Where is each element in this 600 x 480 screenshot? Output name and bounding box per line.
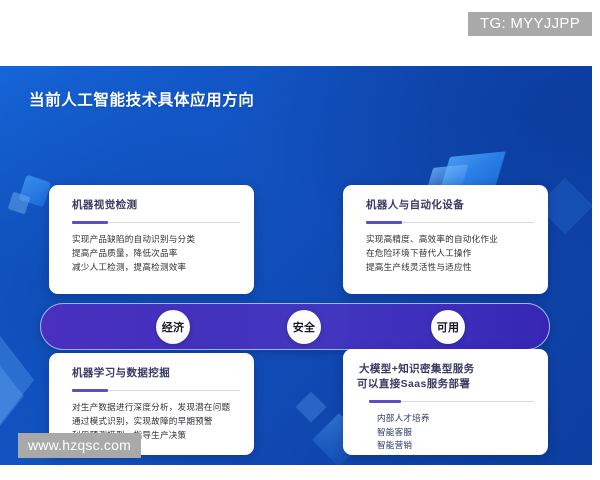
card-body: 实现高精度、高效率的自动化作业 在危险环境下替代人工操作 提高生产线灵活性与适应… (357, 233, 534, 275)
card-title: 大模型+知识密集型服务 (357, 362, 534, 376)
triangle-decoration-left-small (0, 366, 24, 426)
card-body-line: 实现产品缺陷的自动识别与分类 (72, 233, 240, 247)
triangle-decoration-left (0, 336, 34, 424)
band-node-label: 安全 (293, 319, 315, 335)
card-robotics-automation: 机器人与自动化设备 实现高精度、高效率的自动化作业 在危险环境下替代人工操作 提… (343, 185, 548, 294)
accent-bar (72, 389, 108, 392)
card-body-line: 对生产数据进行深度分析，发现潜在问题 (72, 401, 240, 415)
band-node-economy: 经济 (156, 310, 190, 344)
card-body-line: 提高生产线灵活性与适应性 (366, 261, 534, 275)
slide-title: 当前人工智能技术具体应用方向 (29, 88, 254, 110)
card-body-line: 实现高精度、高效率的自动化作业 (366, 233, 534, 247)
accent-bar (72, 221, 108, 224)
band-node-label: 可用 (437, 319, 459, 335)
band-node-availability: 可用 (431, 310, 465, 344)
band-node-label: 经济 (162, 319, 184, 335)
card-divider (357, 400, 534, 403)
card-machine-vision-inspection: 机器视觉检测 实现产品缺陷的自动识别与分类 提高产品质量，降低次品率 减少人工检… (49, 185, 254, 294)
square-decoration-left-small (8, 192, 31, 215)
card-body-line: 内部办公协同 (377, 453, 534, 455)
band-node-security: 安全 (287, 310, 321, 344)
card-divider (63, 389, 240, 392)
card-body-line: 减少人工检测，提高检测效率 (72, 261, 240, 275)
card-title: 机器视觉检测 (63, 198, 240, 212)
presentation-slide: 当前人工智能技术具体应用方向 机器视觉检测 实现产品缺陷的自动识别与分类 提高产… (0, 66, 592, 465)
card-body-line: 智能客服 (377, 426, 534, 440)
url-watermark: www.hzqsc.com (18, 433, 141, 458)
card-body-line: 提高产品质量，降低次品率 (72, 247, 240, 261)
card-title-secondary: 可以直接Saas服务部署 (357, 376, 534, 391)
accent-bar (366, 221, 402, 224)
card-body: 实现产品缺陷的自动识别与分类 提高产品质量，降低次品率 减少人工检测，提高检测效… (63, 233, 240, 275)
card-divider (63, 221, 240, 224)
card-title: 机器人与自动化设备 (357, 198, 534, 212)
telegram-watermark: TG: MYYJJPP (468, 12, 592, 36)
square-decoration-left (19, 175, 52, 208)
card-title: 机器学习与数据挖掘 (63, 366, 240, 380)
card-body-line: 在危险环境下替代人工操作 (366, 247, 534, 261)
process-band: 经济 安全 可用 (40, 303, 550, 350)
diamond-decoration-center-small (295, 391, 326, 422)
card-body-line: 内部人才培养 (377, 412, 534, 426)
card-body: 内部人才培养 智能客服 智能营销 内部办公协同 (357, 412, 534, 455)
accent-bar (369, 400, 401, 403)
card-divider (357, 221, 534, 224)
card-large-model-saas: 大模型+知识密集型服务 可以直接Saas服务部署 内部人才培养 智能客服 智能营… (343, 349, 548, 455)
card-body-line: 智能营销 (377, 439, 534, 453)
card-body-line: 通过模式识别，实现故障的早期预警 (72, 415, 240, 429)
